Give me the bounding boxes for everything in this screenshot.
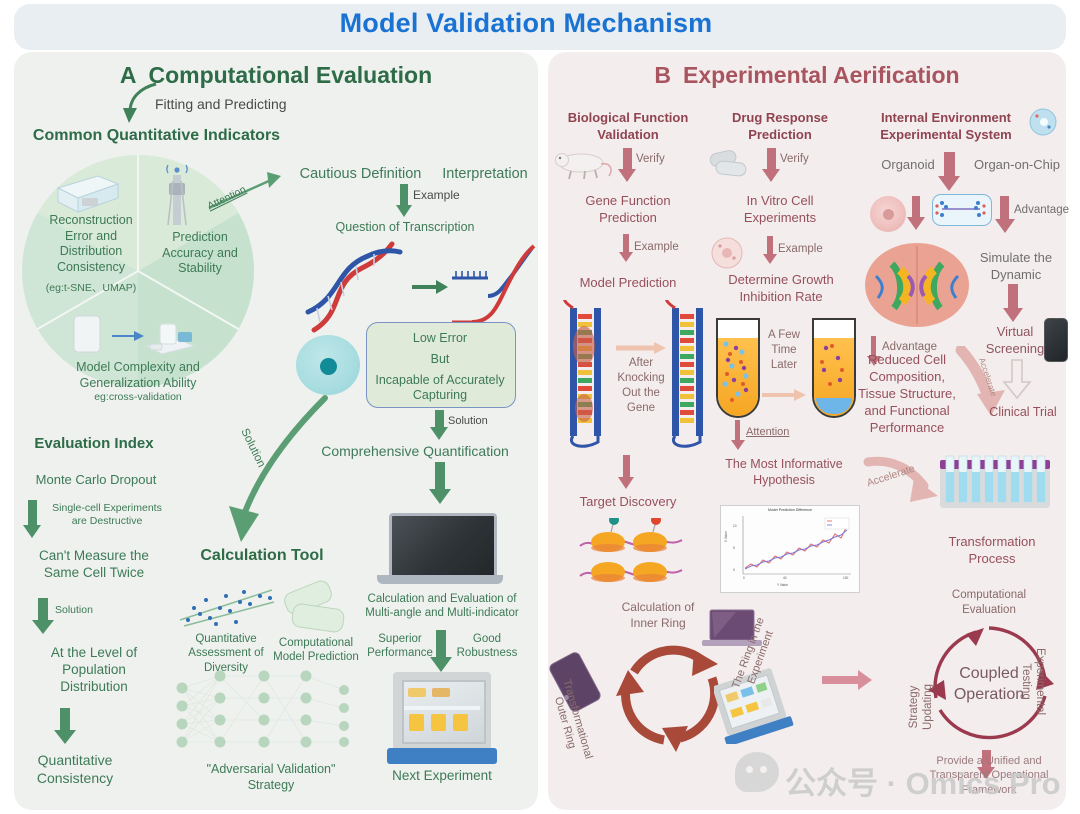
- col3-arrow-a-shaft: [912, 196, 920, 218]
- col3-reduced-cell: Reduced Cell Composition, Tissue Structu…: [846, 352, 968, 436]
- col1-target-arrow-head: [618, 477, 634, 489]
- col2-step3: The Most Informative Hypothesis: [702, 456, 866, 489]
- col1-target-arrow-shaft: [623, 455, 630, 479]
- col1-verify-arrow-head: [618, 169, 636, 182]
- watermark-text: 公众号 · Omics Pro: [785, 758, 1061, 803]
- calc-tool-item-3: "Adversarial Validation" Strategy: [176, 762, 366, 793]
- panel-b-title: Experimental Aerification: [683, 62, 960, 88]
- col1-knockout-label: After Knocking Out the Gene: [602, 356, 680, 416]
- col3-simulate-dynamic: Simulate the Dynamic: [966, 250, 1066, 284]
- scatter-plot-icon: [176, 578, 282, 630]
- col1-example-arrow-shaft: [623, 234, 629, 254]
- antenna-tower-icon: [160, 163, 194, 229]
- brain-icon: [862, 240, 972, 330]
- mini-chart-xtick-0: 0: [743, 576, 745, 580]
- col2-example-label: Example: [778, 242, 836, 257]
- col1-example-label: Example: [634, 240, 696, 255]
- pie-sector-3-label: Model Complexity and Generalization Abil…: [50, 360, 226, 391]
- pie-sector-2-label: Prediction Accuracy and Stability: [150, 230, 250, 277]
- organ-on-chip-detail: [932, 194, 990, 224]
- laptop-caption: Calculation and Evaluation of Multi-angl…: [356, 592, 528, 621]
- fitting-predicting-label: Fitting and Predicting: [155, 96, 375, 114]
- eval-arrow-2-shaft: [38, 598, 48, 622]
- vial-before-particles: [716, 318, 756, 414]
- col3-advantage-label-1: Advantage: [1014, 203, 1080, 218]
- neural-network-icon: [168, 668, 358, 760]
- evaluation-index-heading: Evaluation Index: [14, 435, 174, 454]
- col2-attention-label: Attention: [746, 425, 816, 439]
- cell-nucleus-icon: [320, 358, 337, 375]
- col2-time-label: A Few Time Later: [760, 328, 808, 373]
- good-robustness-label: Good Robustness: [450, 632, 524, 661]
- col2-example-arrow-head: [763, 254, 777, 264]
- phone-icon: [1044, 318, 1068, 362]
- calc-tool-item-2: Computational Model Prediction: [258, 636, 374, 665]
- watermark-cn: 公众号 ·: [785, 766, 906, 801]
- knockout-arrow-icon: [614, 340, 668, 356]
- eval-arrow-2-label: Solution: [55, 604, 115, 617]
- coupled-right-label: Experimental Testing: [1018, 648, 1046, 715]
- col2-attention-arrow-head: [731, 440, 745, 450]
- coupled-left-label: Strategy Updating: [908, 684, 936, 730]
- clinical-trial-hollow-arrow-icon: [1000, 358, 1034, 400]
- note-line-3: Incapable of Accurately: [366, 373, 514, 389]
- laptop-base-icon: [377, 575, 503, 584]
- pie-sector-1-sub: (eg:t-SNE、UMAP): [30, 282, 152, 295]
- next-experiment-label: Next Experiment: [385, 768, 499, 785]
- cycles-connector-shaft: [822, 676, 860, 684]
- coupled-top-label: Computational Evaluation: [906, 588, 1072, 618]
- eval-step-3: At the Level of Population Distribution: [8, 645, 180, 696]
- col2-verify-label: Verify: [780, 152, 836, 167]
- col3-arrow-c-head: [1003, 308, 1023, 322]
- watermark-en: Omics Pro: [906, 766, 1061, 801]
- solution-label-1: Solution: [448, 415, 508, 429]
- cycles-connector-head: [858, 670, 872, 690]
- note-line-4: Capturing: [366, 388, 514, 404]
- col1-step3: Target Discovery: [553, 494, 703, 511]
- pie-sector-1-label: Reconstruction Error and Distribution Co…: [38, 213, 144, 276]
- incubator-flask-1: [409, 714, 424, 731]
- eval-step-1: Monte Carlo Dropout: [12, 472, 180, 488]
- example-arrow-head: [396, 205, 412, 217]
- wechat-icon: [735, 752, 779, 792]
- transformation-process-label: Transformation Process: [916, 534, 1068, 568]
- page-title: Model Validation Mechanism: [0, 8, 1052, 39]
- test-tubes-icon: [940, 452, 1050, 510]
- col1-step2: Model Prediction: [553, 275, 703, 292]
- incubator-base-icon: [387, 748, 497, 764]
- col2-step2: Determine Growth Inhibition Rate: [700, 272, 862, 306]
- to-incubator-arrow-shaft: [436, 630, 446, 658]
- col3-organ-on-chip-label: Organ-on-Chip: [957, 157, 1077, 174]
- col2-verify-arrow-head: [762, 169, 780, 182]
- col3-arrow-b-head: [995, 219, 1015, 233]
- cell-icon: [1029, 108, 1057, 136]
- eval-arrow-1-label: Single-cell Experiments are Destructive: [42, 502, 172, 528]
- mini-chart-xtick-2: 40: [783, 576, 787, 580]
- cage-icon: [52, 172, 122, 216]
- col2-verify-arrow-shaft: [767, 148, 776, 170]
- col1-verify-label: Verify: [636, 152, 696, 167]
- eval-arrow-1-head: [23, 525, 41, 538]
- panel-a-title: Computational Evaluation: [148, 62, 432, 88]
- note-line-2: But: [366, 352, 514, 368]
- col3-heading: Internal Environment Experimental System: [856, 110, 1036, 144]
- example-arrow-shaft: [400, 184, 408, 206]
- mini-chart-xtick-5: 100: [843, 576, 848, 580]
- wechat-icon-dot-2: [760, 766, 767, 773]
- panel-a-heading: AComputational Evaluation: [14, 62, 538, 89]
- col2-step1: In Vitro Cell Experiments: [706, 193, 854, 227]
- question-of-transcription-label: Question of Transcription: [315, 220, 495, 236]
- col2-example-arrow-shaft: [767, 236, 773, 256]
- eval-arrow-1-shaft: [28, 500, 37, 526]
- cautious-definition-label: Cautious Definition: [288, 165, 433, 183]
- pie-sector-3-sub: eg:cross-validation: [60, 391, 216, 404]
- wechat-icon-dot-1: [746, 766, 753, 773]
- col3-clinical-trial: Clinical Trial: [975, 404, 1071, 420]
- col3-top-arrow-shaft: [944, 152, 955, 178]
- mouse-icon: [551, 148, 617, 182]
- col2-heading: Drug Response Prediction: [706, 110, 854, 144]
- col1-example-arrow-head: [619, 252, 633, 262]
- col3-arrow-c-shaft: [1008, 284, 1018, 310]
- to-laptop-arrow-shaft: [435, 462, 445, 490]
- time-later-arrow-icon: [760, 388, 808, 402]
- solution-arrow-head-1: [430, 427, 448, 440]
- mini-chart-ytick-0: 0: [733, 568, 735, 572]
- petri-dish-icon: [710, 236, 746, 270]
- eval-arrow-3-head: [54, 730, 76, 744]
- note-line-1: Low Error: [366, 331, 514, 347]
- target-molecules-icon: [578, 518, 688, 586]
- incubator-shelf-icon: [404, 706, 480, 710]
- calculation-tool-heading: Calculation Tool: [178, 546, 346, 566]
- panel-b-letter: B: [654, 62, 671, 88]
- eval-arrow-2-head: [32, 620, 54, 634]
- col1-verify-arrow-shaft: [623, 148, 632, 170]
- solution-arrow-shaft-1: [435, 410, 444, 428]
- superior-performance-label: Superior Performance: [366, 632, 434, 661]
- to-laptop-arrow-head: [429, 489, 451, 504]
- eval-step-2: Can't Measure the Same Cell Twice: [8, 548, 180, 582]
- panel-b-heading: BExperimental Aerification: [548, 62, 1066, 89]
- solution-curved-arrow-icon: [215, 390, 335, 550]
- mini-chart-ylabel: X Value: [724, 531, 728, 542]
- eval-step-4: Quantitative Consistency: [5, 752, 145, 787]
- mini-chart-xlabel: Y Value: [777, 583, 788, 587]
- incubator-flask-2: [431, 714, 446, 731]
- pills-icon: [708, 148, 756, 178]
- model-prediction-difference-chart: Model Prediction Difference 0 5 10 0 40 …: [720, 505, 860, 593]
- col3-organoid-label: Organoid: [862, 157, 954, 174]
- col3-arrow-a-head: [907, 217, 925, 230]
- diagram-root: Model Validation Mechanism AComputationa…: [0, 0, 1080, 814]
- bioreactor-icon: [68, 310, 198, 362]
- example-label-a: Example: [413, 188, 483, 203]
- mini-chart-ytick-1: 5: [733, 546, 735, 550]
- col1-step1: Gene Function Prediction: [553, 193, 703, 227]
- eval-arrow-3-shaft: [60, 708, 70, 732]
- common-quantitative-indicators-heading: Common Quantitative Indicators: [14, 126, 299, 146]
- incubator-sample-1: [408, 688, 426, 697]
- col2-attention-arrow-shaft: [735, 420, 740, 442]
- col3-top-arrow-head: [938, 176, 960, 191]
- laptop-screen-icon: [389, 513, 497, 581]
- mini-chart-ytick-2: 10: [733, 524, 737, 528]
- incubator-sample-2: [432, 688, 450, 697]
- col1-heading: Biological Function Validation: [548, 110, 708, 144]
- incubator-flask-3: [453, 714, 468, 731]
- col3-arrow-b-shaft: [1000, 196, 1009, 220]
- interpretation-label: Interpretation: [430, 165, 540, 183]
- transcription-arrow-icon: [410, 278, 450, 296]
- organoid-core-icon: [883, 209, 894, 220]
